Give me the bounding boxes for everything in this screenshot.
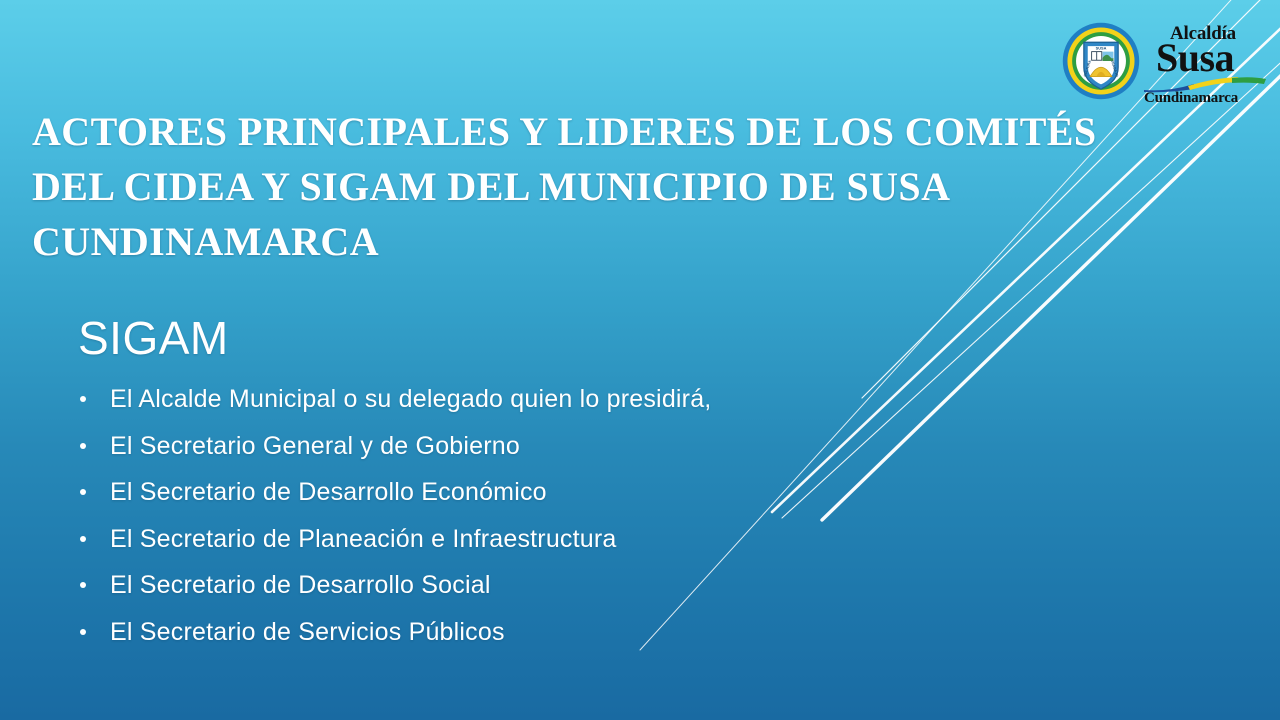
bullet-point-icon: [80, 443, 86, 449]
list-item-label: El Secretario de Desarrollo Económico: [110, 478, 547, 506]
list-item: El Secretario de Desarrollo Económico: [78, 477, 1038, 524]
list-item: El Secretario General y de Gobierno: [78, 431, 1038, 478]
list-item: El Secretario de Desarrollo Social: [78, 570, 1038, 617]
list-item-label: El Secretario de Desarrollo Social: [110, 571, 491, 599]
list-item-label: El Secretario General y de Gobierno: [110, 432, 520, 460]
presentation-slide: ACTORES PRINCIPALES Y LIDERES DE LOS COM…: [0, 0, 1280, 720]
list-item-label: El Secretario de Planeación e Infraestru…: [110, 525, 617, 553]
bullet-point-icon: [80, 629, 86, 635]
list-item-label: El Secretario de Servicios Públicos: [110, 618, 505, 646]
list-item: El Secretario de Servicios Públicos: [78, 617, 1038, 664]
section-subheading: SIGAM: [78, 312, 1038, 364]
logo-line-susa: Susa: [1156, 38, 1234, 78]
alcaldia-susa-logo: SUSA CULTURA TRABAJO Alcaldía Susa Cundi…: [1062, 18, 1268, 110]
title-line-2: DEL CIDEA Y SIGAM DEL MUNICIPIO DE SUSA: [32, 159, 1157, 214]
list-item: El Alcalde Municipal o su delegado quien…: [78, 384, 1038, 431]
slide-body: SIGAM El Alcalde Municipal o su delegado…: [78, 312, 1038, 663]
bullet-point-icon: [80, 396, 86, 402]
list-item-label: El Alcalde Municipal o su delegado quien…: [110, 385, 711, 413]
susa-coat-of-arms-icon: SUSA CULTURA TRABAJO: [1062, 22, 1140, 100]
bullet-point-icon: [80, 536, 86, 542]
title-line-1: ACTORES PRINCIPALES Y LIDERES DE LOS COM…: [32, 104, 1157, 159]
logo-wordmark: Alcaldía Susa Cundinamarca: [1142, 18, 1268, 110]
bullet-point-icon: [80, 582, 86, 588]
list-item: El Secretario de Planeación e Infraestru…: [78, 524, 1038, 571]
title-line-3: CUNDINAMARCA: [32, 214, 1157, 269]
bullet-point-icon: [80, 489, 86, 495]
logo-line-cundinamarca: Cundinamarca: [1144, 90, 1238, 107]
slide-title: ACTORES PRINCIPALES Y LIDERES DE LOS COM…: [32, 104, 1157, 269]
svg-text:SUSA: SUSA: [1096, 46, 1107, 51]
bullet-list: El Alcalde Municipal o su delegado quien…: [78, 384, 1038, 663]
